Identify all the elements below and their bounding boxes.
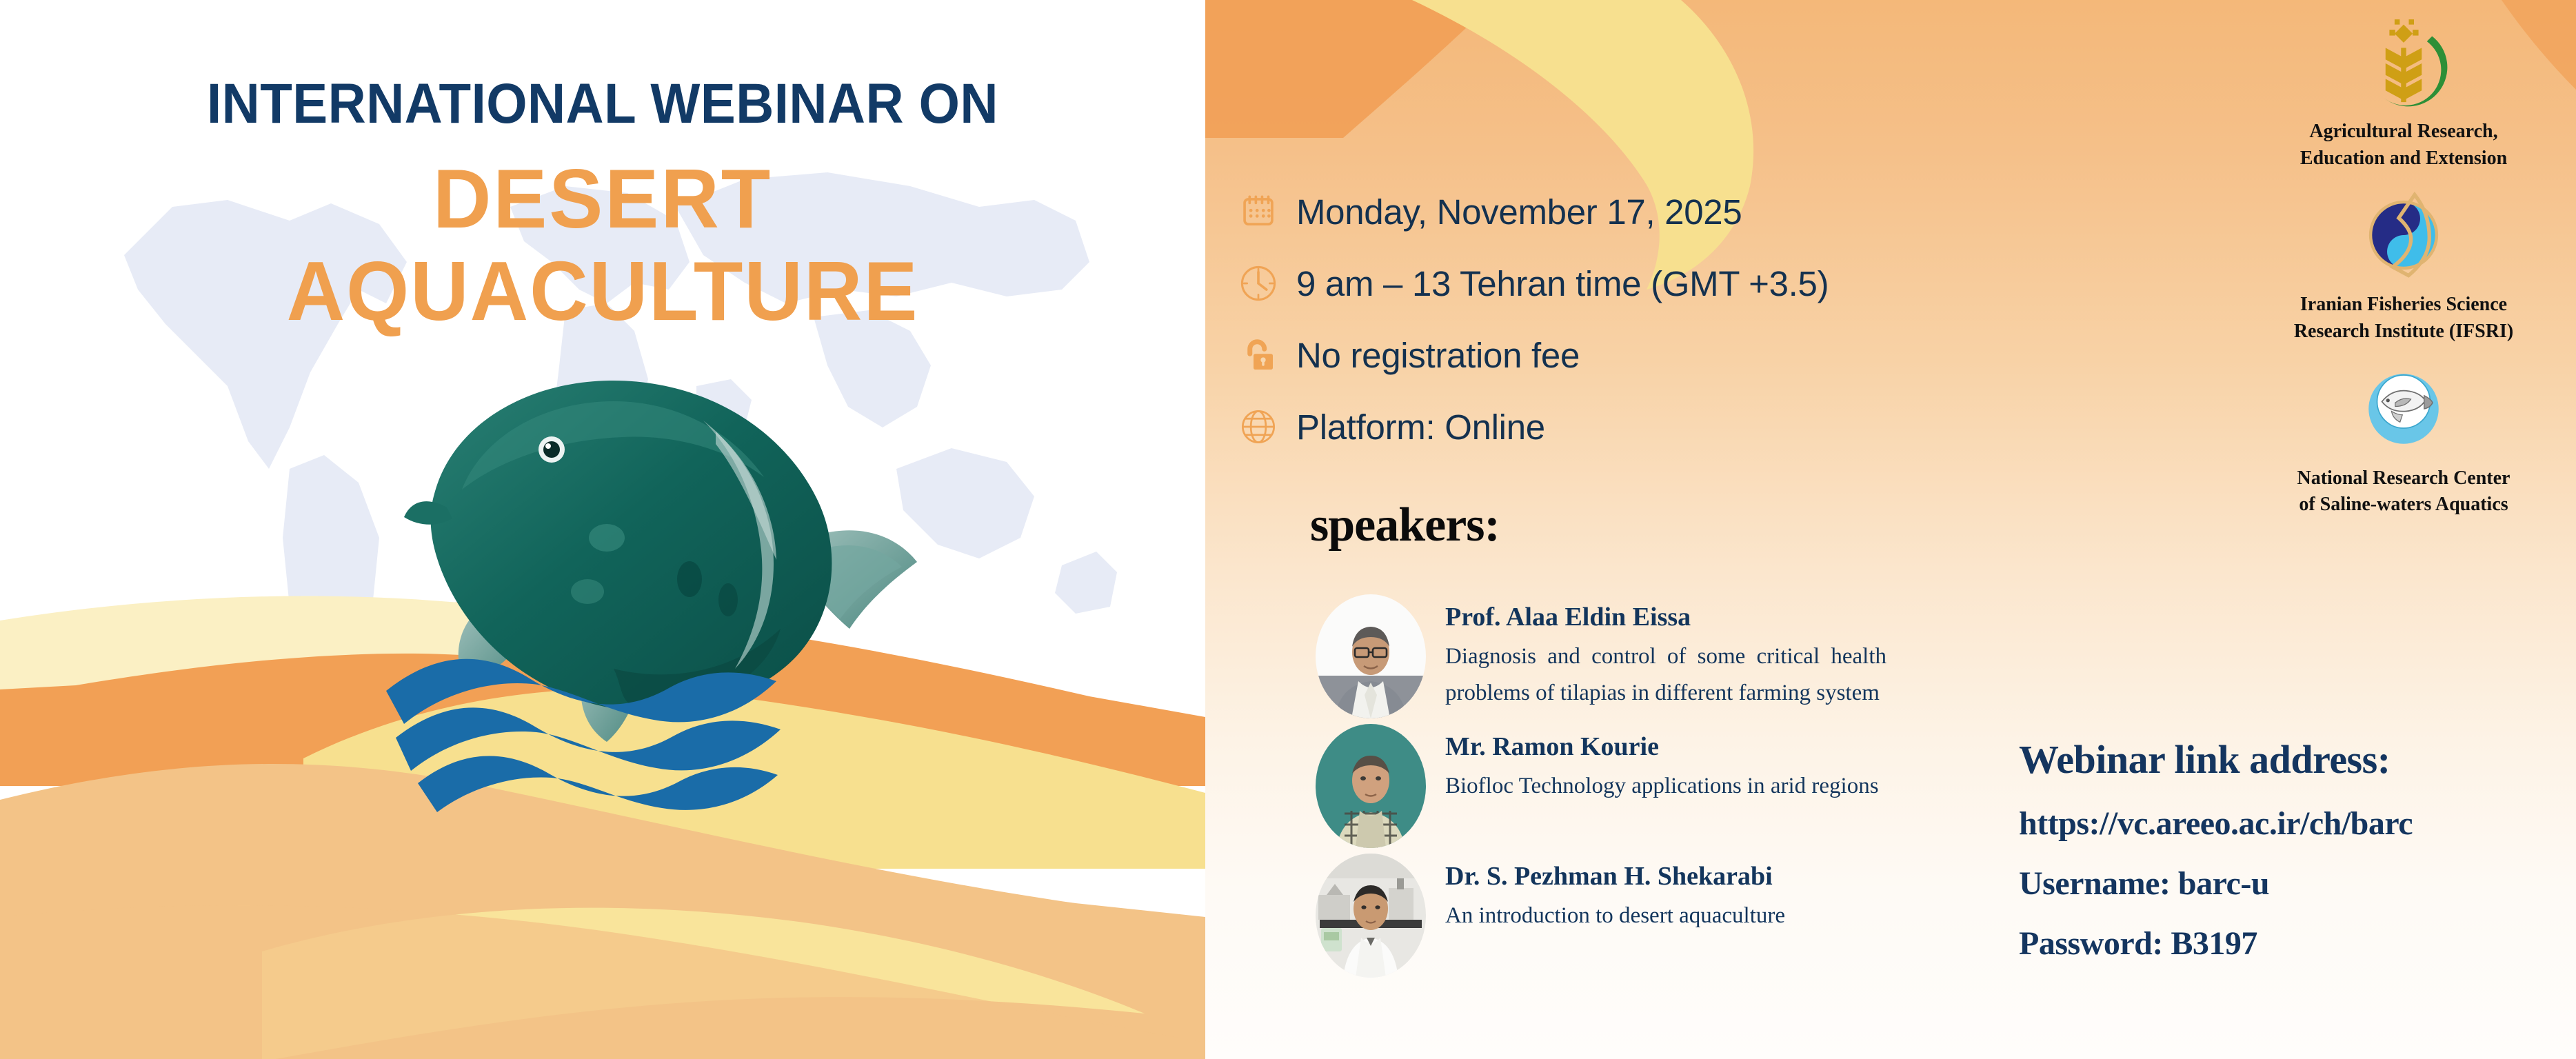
open-lock-icon [1237, 334, 1280, 376]
logo-caption: Agricultural Research, Education and Ext… [2245, 119, 2562, 172]
event-time: 9 am – 13 Tehran time (GMT +3.5) [1296, 263, 1829, 304]
logo-caption-line1: Agricultural Research, [2245, 119, 2562, 145]
info-row-date: Monday, November 17, 2025 [1237, 176, 2064, 248]
webinar-poster: INTERNATIONAL WEBINAR ON DESERT AQUACULT… [0, 0, 2576, 1059]
speakers-list: Prof. Alaa Eldin Eissa Diagnosis and con… [1316, 594, 2060, 983]
info-row-time: 9 am – 13 Tehran time (GMT +3.5) [1237, 248, 2064, 319]
webinar-link-block: Webinar link address: https://vc.areeo.a… [2019, 736, 2543, 962]
partner-logos: Agricultural Research, Education and Ext… [2245, 7, 2562, 527]
saline-water-fish-logo-icon [2245, 354, 2562, 464]
right-panel: Monday, November 17, 2025 9 am – 13 Tehr… [1205, 0, 2576, 1059]
fish-yin-yang-logo-icon [2245, 180, 2562, 290]
title-block: INTERNATIONAL WEBINAR ON DESERT AQUACULT… [0, 76, 1205, 334]
logo-caption-line2: Education and Extension [2245, 145, 2562, 172]
speaker-name: Dr. S. Pezhman H. Shekarabi [1445, 860, 1886, 894]
speaker-topic: An introduction to desert aquaculture [1445, 898, 1886, 934]
speaker-name: Mr. Ramon Kourie [1445, 731, 1886, 764]
speaker-text: Prof. Alaa Eldin Eissa Diagnosis and con… [1445, 594, 1886, 712]
title-line-1: DESERT [24, 156, 1181, 241]
calendar-icon [1237, 190, 1280, 233]
avatar [1316, 854, 1426, 978]
webinar-password: Password: B3197 [2019, 925, 2543, 962]
webinar-username: Username: barc-u [2019, 865, 2543, 902]
speaker-name: Prof. Alaa Eldin Eissa [1445, 601, 1886, 634]
globe-icon [1237, 405, 1280, 448]
event-platform: Platform: Online [1296, 407, 1545, 447]
left-panel: INTERNATIONAL WEBINAR ON DESERT AQUACULT… [0, 0, 1205, 1059]
avatar [1316, 724, 1426, 848]
title-kicker: INTERNATIONAL WEBINAR ON [42, 76, 1163, 132]
avatar [1316, 594, 1426, 718]
logo-item-areeo: Agricultural Research, Education and Ext… [2245, 7, 2562, 172]
speaker-text: Mr. Ramon Kourie Biofloc Technology appl… [1445, 724, 1886, 805]
speaker-item: Prof. Alaa Eldin Eissa Diagnosis and con… [1316, 594, 2060, 718]
blue-waves-icon [386, 648, 800, 814]
event-fee: No registration fee [1296, 335, 1580, 376]
logo-caption-line2: Research Institute (IFSRI) [2245, 319, 2562, 345]
logo-caption-line1: Iranian Fisheries Science [2245, 292, 2562, 319]
info-row-fee: No registration fee [1237, 319, 2064, 391]
webinar-url[interactable]: https://vc.areeo.ac.ir/ch/barc [2019, 805, 2543, 843]
title-main: DESERT AQUACULTURE [24, 156, 1181, 334]
logo-item-saline: National Research Center of Saline-water… [2245, 354, 2562, 518]
speaker-topic: Diagnosis and control of some critical h… [1445, 638, 1886, 712]
speaker-item: Mr. Ramon Kourie Biofloc Technology appl… [1316, 724, 2060, 848]
logo-caption-line2: of Saline-waters Aquatics [2245, 492, 2562, 518]
clock-icon [1237, 262, 1280, 305]
logo-caption: Iranian Fisheries Science Research Insti… [2245, 292, 2562, 345]
event-info-list: Monday, November 17, 2025 9 am – 13 Tehr… [1237, 176, 2064, 463]
speaker-item: Dr. S. Pezhman H. Shekarabi An introduct… [1316, 854, 2060, 978]
speaker-topic: Biofloc Technology applications in arid … [1445, 768, 1886, 805]
speakers-heading: speakers: [1310, 498, 1500, 553]
title-line-2: AQUACULTURE [24, 248, 1181, 334]
logo-caption-line1: National Research Center [2245, 465, 2562, 492]
event-date: Monday, November 17, 2025 [1296, 192, 1742, 232]
speaker-text: Dr. S. Pezhman H. Shekarabi An introduct… [1445, 854, 1886, 934]
webinar-link-title: Webinar link address: [2019, 736, 2543, 783]
wheat-ear-logo-icon [2245, 7, 2562, 117]
logo-caption: National Research Center of Saline-water… [2245, 465, 2562, 518]
info-row-platform: Platform: Online [1237, 391, 2064, 463]
logo-item-ifsri: Iranian Fisheries Science Research Insti… [2245, 180, 2562, 345]
